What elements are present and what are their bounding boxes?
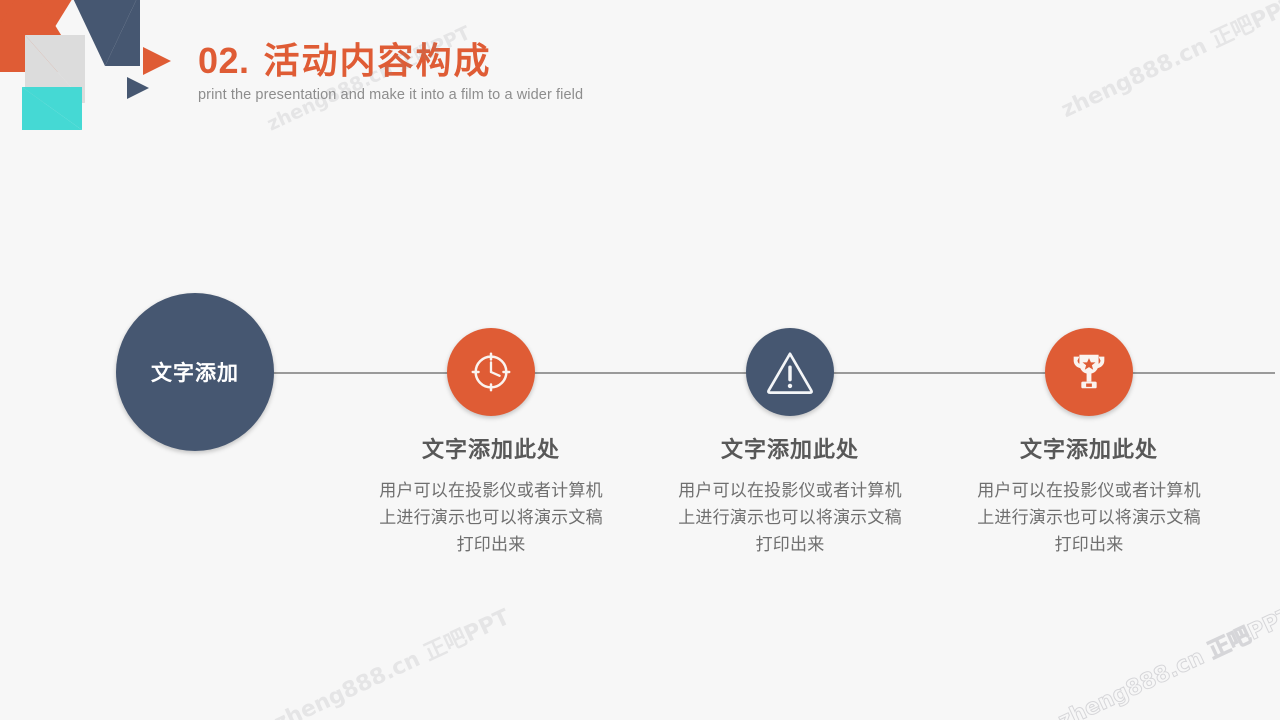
node-title: 文字添加此处 (640, 438, 940, 464)
timeline-node-3-circle[interactable] (1045, 328, 1133, 416)
timeline-node-1-circle[interactable] (447, 328, 535, 416)
section-title: 活动内容构成 (264, 43, 492, 81)
timeline-node-2-text: 文字添加此处 用户可以在投影仪或者计算机上进行演示也可以将演示文稿打印出来 (640, 438, 940, 559)
timeline-node-3-text: 文字添加此处 用户可以在投影仪或者计算机上进行演示也可以将演示文稿打印出来 (939, 438, 1239, 559)
slide-header: 02. 活动内容构成 print the presentation and ma… (198, 42, 918, 103)
section-subtitle: print the presentation and make it into … (198, 87, 918, 103)
section-number: 02. (198, 42, 250, 80)
timeline-node-1-text: 文字添加此处 用户可以在投影仪或者计算机上进行演示也可以将演示文稿打印出来 (341, 438, 641, 559)
watermark-bottom-left: zheng888.cn 正吧PPT (268, 600, 514, 720)
timeline-hub-circle[interactable]: 文字添加 (116, 293, 274, 451)
node-body: 用户可以在投影仪或者计算机上进行演示也可以将演示文稿打印出来 (378, 478, 604, 559)
warning-triangle-icon (766, 349, 814, 395)
node-body: 用户可以在投影仪或者计算机上进行演示也可以将演示文稿打印出来 (677, 478, 903, 559)
node-title: 文字添加此处 (341, 438, 641, 464)
watermark-top-right: zheng888.cn 正吧PPT (1055, 0, 1280, 124)
node-title: 文字添加此处 (939, 438, 1239, 464)
timeline-hub-label: 文字添加 (151, 357, 239, 387)
page-title: 02. 活动内容构成 (198, 42, 918, 81)
presentation-slide: 02. 活动内容构成 print the presentation and ma… (0, 0, 1280, 720)
clock-icon (468, 349, 514, 395)
watermark-bottom-right: zheng888.cn 正吧PPT (1052, 598, 1280, 720)
node-body: 用户可以在投影仪或者计算机上进行演示也可以将演示文稿打印出来 (976, 478, 1202, 559)
timeline-node-2-circle[interactable] (746, 328, 834, 416)
trophy-icon (1066, 349, 1112, 395)
